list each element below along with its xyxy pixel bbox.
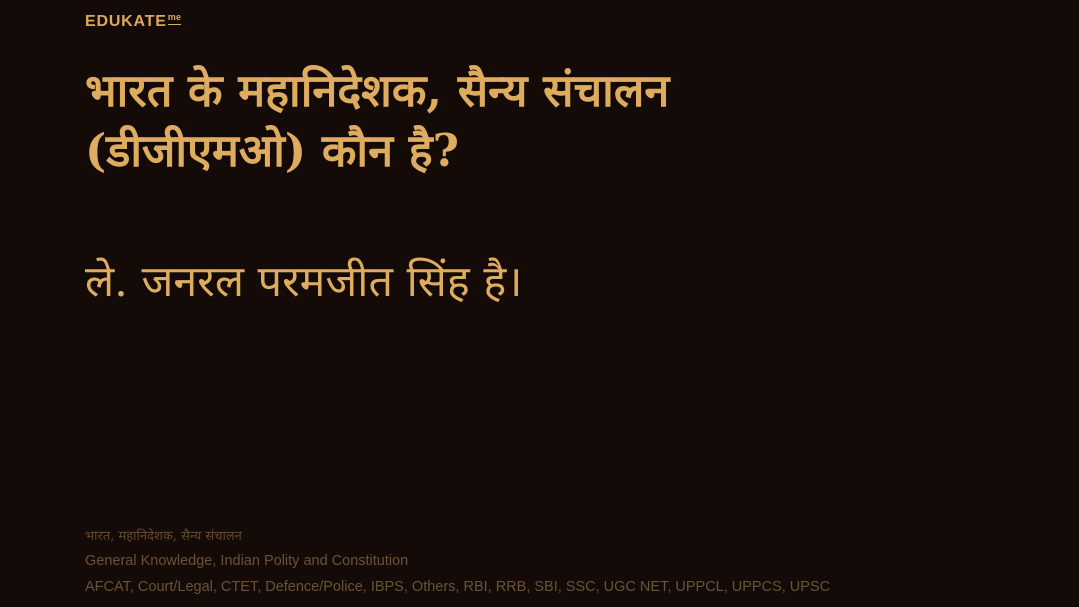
brand-logo[interactable]: EDUKATE me bbox=[85, 14, 181, 30]
question-line-1: भारत के महानिदेशक, सैन्य संचालन bbox=[85, 61, 985, 121]
footer-meta: भारत, महानिदेशक, सैन्य संचालन General Kn… bbox=[85, 525, 1045, 601]
answer-text: ले. जनरल परमजीत सिंह है। bbox=[85, 255, 985, 311]
brand-name: EDUKATE bbox=[85, 14, 167, 30]
footer-subjects: General Knowledge, Indian Polity and Con… bbox=[85, 549, 1045, 575]
footer-exams: AFCAT, Court/Legal, CTET, Defence/Police… bbox=[85, 575, 1045, 601]
footer-keywords-hindi: भारत, महानिदेशक, सैन्य संचालन bbox=[85, 525, 1045, 549]
brand-suffix: me bbox=[168, 13, 181, 25]
slide-canvas: EDUKATE me भारत के महानिदेशक, सैन्य संचा… bbox=[0, 0, 1079, 607]
question-text: भारत के महानिदेशक, सैन्य संचालन (डीजीएमओ… bbox=[85, 61, 985, 181]
question-line-2: (डीजीएमओ) कौन है? bbox=[85, 121, 985, 181]
